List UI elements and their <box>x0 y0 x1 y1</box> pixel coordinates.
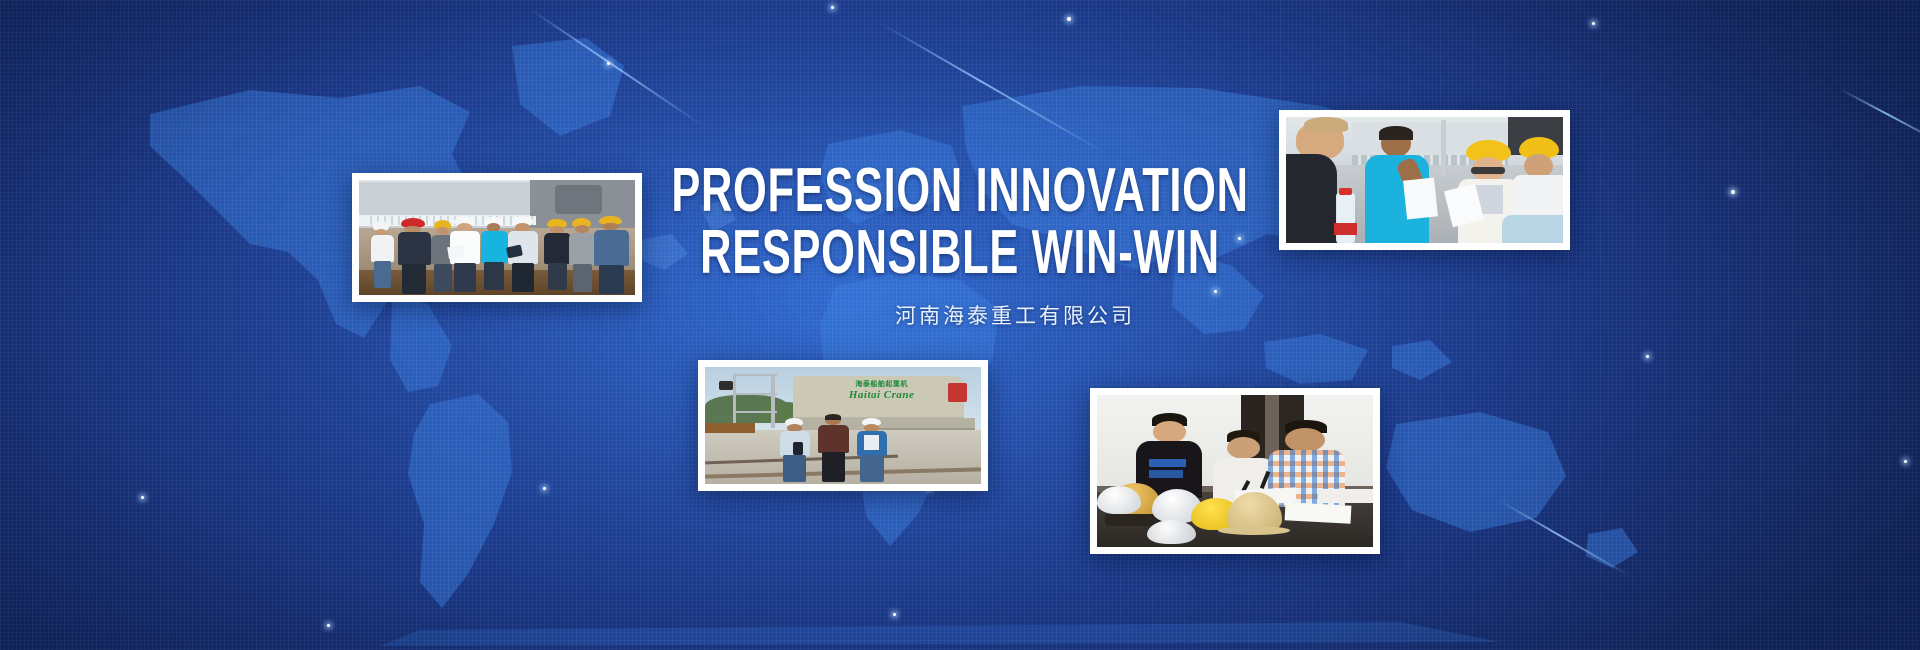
photo-card-site-meeting[interactable] <box>352 173 642 302</box>
star-dot <box>327 624 330 627</box>
star-dot <box>543 487 546 490</box>
crane-sign-en: Haitai Crane <box>821 389 942 401</box>
helmet-white-1 <box>1097 486 1141 513</box>
photo-image-site-meeting <box>359 180 635 295</box>
photo-image-contract-signing <box>1097 395 1373 547</box>
hero-banner: PROFESSION INNOVATION RESPONSIBLE WIN-WI… <box>0 0 1920 650</box>
star-dot <box>1731 190 1735 194</box>
star-dot <box>1904 460 1907 463</box>
star-dot <box>831 6 834 9</box>
photo-card-haitai-crane[interactable]: 海泰船舶起重机 Haitai Crane <box>698 360 988 491</box>
star-dot <box>893 613 896 616</box>
star-dots <box>0 0 1920 650</box>
crane-sign-cn: 海泰船舶起重机 <box>821 379 942 389</box>
star-dot <box>1067 17 1071 21</box>
star-dot <box>607 62 610 65</box>
star-dot <box>1214 290 1217 293</box>
star-dot <box>1646 355 1649 358</box>
star-dot <box>1238 237 1241 240</box>
star-dot <box>1592 22 1595 25</box>
photo-card-contract-signing[interactable] <box>1090 388 1380 554</box>
photo-card-client-briefing[interactable] <box>1279 110 1570 250</box>
photo-image-haitai-crane: 海泰船舶起重机 Haitai Crane <box>705 367 981 484</box>
photo-image-client-briefing <box>1286 117 1563 243</box>
star-dot <box>141 496 144 499</box>
